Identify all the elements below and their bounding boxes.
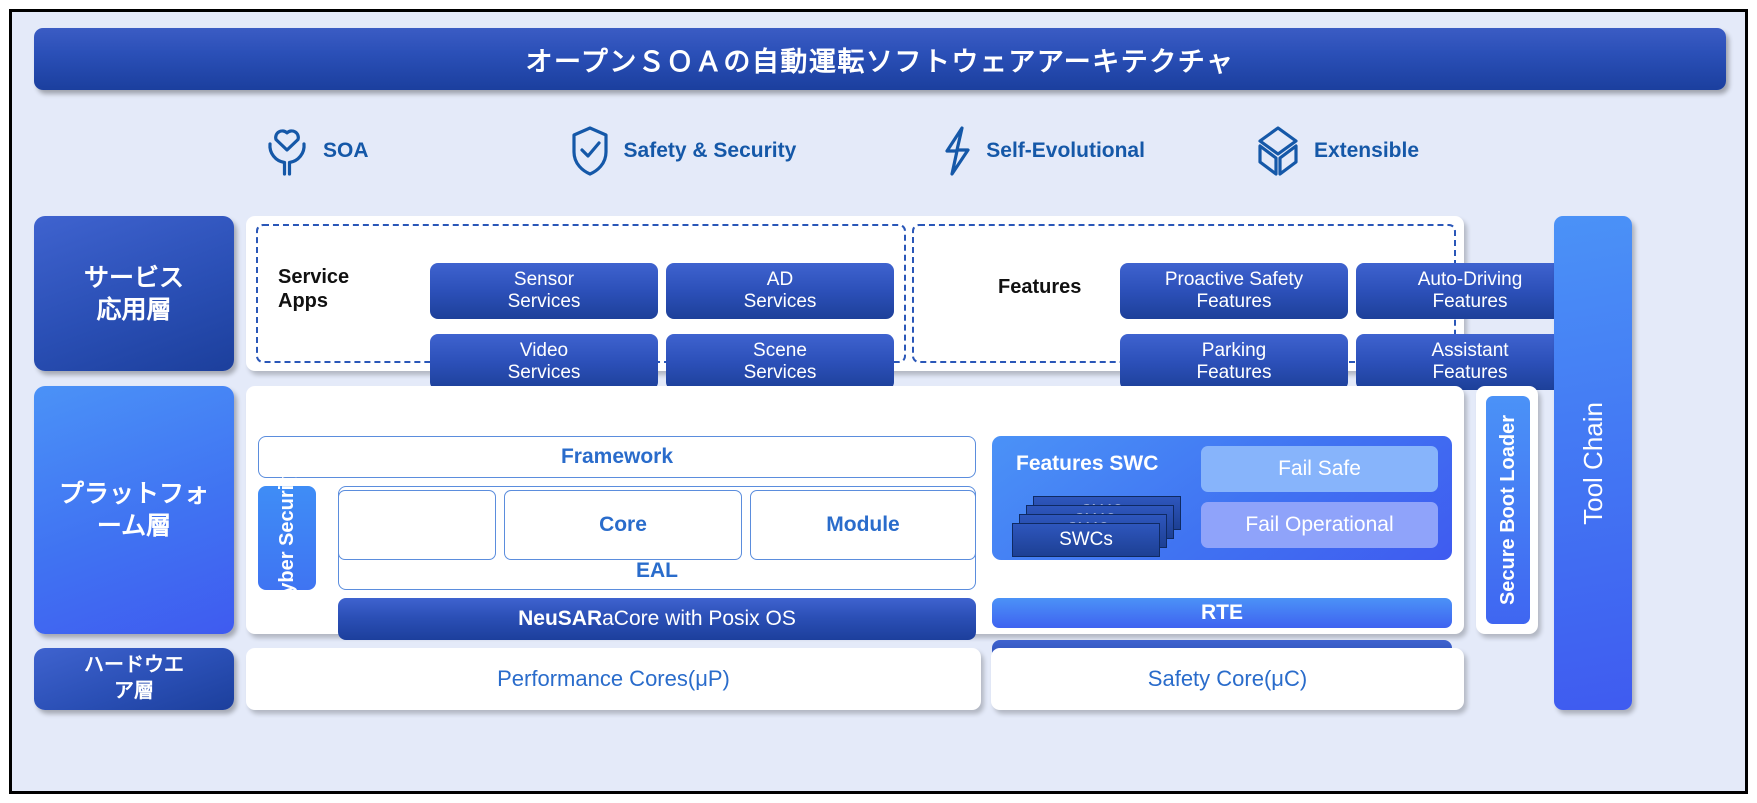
- layer-chip-hardware-line2: ア層: [84, 679, 184, 705]
- tile-line2: Services: [744, 291, 817, 313]
- service-apps-label-line2: Apps: [278, 290, 398, 314]
- layer-chip-service: サービス 応用層: [34, 216, 234, 371]
- tool-chain-bar[interactable]: Tool Chain: [1554, 216, 1632, 710]
- tile-video-services[interactable]: Video Services: [430, 334, 658, 390]
- neusar-acore-os-bar[interactable]: NeuSAR aCore with Posix OS: [338, 598, 976, 640]
- fail-operational-tile[interactable]: Fail Operational: [1201, 502, 1438, 548]
- lightning-bolt-icon: [941, 125, 973, 177]
- diagram-root: オープンＳＯＡの自動運転ソフトウェアアーキテクチャ SOA: [0, 0, 1757, 803]
- tile-auto-driving-features[interactable]: Auto-Driving Features: [1356, 263, 1584, 319]
- safety-core-label: Safety Core(μC): [991, 648, 1464, 710]
- service-apps-label-line1: Service: [278, 266, 398, 290]
- swc-card[interactable]: SWCs: [1012, 523, 1160, 557]
- heart-in-hands-icon: [264, 125, 310, 177]
- layer-chip-platform-line2: ーム層: [59, 510, 209, 542]
- secure-boot-loader-label: Secure Boot Loader: [1497, 415, 1520, 605]
- diagram-title-bar: オープンＳＯＡの自動運転ソフトウェアアーキテクチャ: [34, 28, 1726, 90]
- cube-icon: [1255, 125, 1301, 177]
- rte-bar[interactable]: RTE: [992, 598, 1452, 628]
- cyber-security-label: Cyber Security: [276, 467, 299, 608]
- framework-box[interactable]: Framework: [258, 436, 976, 478]
- tile-line2: Services: [508, 362, 581, 384]
- performance-cores-label: Performance Cores(μP): [246, 648, 981, 710]
- tile-ad-services[interactable]: AD Services: [666, 263, 894, 319]
- tile-line2: Services: [744, 362, 817, 384]
- tile-line2: Features: [1197, 362, 1272, 384]
- layer-chip-platform: プラットフォ ーム層: [34, 386, 234, 634]
- tile-line2: Features: [1431, 362, 1508, 384]
- tile-assistant-features[interactable]: Assistant Features: [1356, 334, 1584, 390]
- shield-check-icon: [569, 125, 611, 177]
- core-box[interactable]: Core: [504, 490, 742, 560]
- features-swc-title: Features SWC: [1016, 452, 1158, 476]
- features-label: Features: [998, 276, 1118, 300]
- tile-line1: Video: [508, 340, 581, 362]
- tile-line1: Assistant: [1431, 340, 1508, 362]
- pillar-safety-security: Safety & Security: [569, 125, 797, 177]
- layer-chip-hardware: ハードウエ ア層: [34, 648, 234, 710]
- tile-line2: Features: [1165, 291, 1303, 313]
- tile-sensor-services[interactable]: Sensor Services: [430, 263, 658, 319]
- pillar-label: Self-Evolutional: [986, 139, 1145, 163]
- pillar-soa: SOA: [264, 125, 369, 177]
- module-box[interactable]: Module: [750, 490, 976, 560]
- tile-line2: Services: [508, 291, 581, 313]
- layer-chip-hardware-line1: ハードウエ: [84, 653, 184, 679]
- cyber-security-bar[interactable]: Cyber Security: [258, 486, 316, 590]
- platform-empty-box[interactable]: [338, 490, 496, 560]
- tile-line1: Scene: [744, 340, 817, 362]
- tile-line1: Sensor: [508, 269, 581, 291]
- tile-line1: Auto-Driving: [1418, 269, 1523, 291]
- tile-scene-services[interactable]: Scene Services: [666, 334, 894, 390]
- pillar-label: Safety & Security: [624, 139, 797, 163]
- tile-proactive-safety-features[interactable]: Proactive Safety Features: [1120, 263, 1348, 319]
- neusar-acore-rest: aCore with Posix OS: [602, 607, 796, 631]
- diagram-frame: オープンＳＯＡの自動運転ソフトウェアアーキテクチャ SOA: [9, 9, 1748, 794]
- pillar-extensible: Extensible: [1255, 125, 1419, 177]
- service-apps-label: Service Apps: [278, 266, 398, 313]
- neusar-acore-brand: NeuSAR: [518, 607, 602, 631]
- tile-line1: AD: [744, 269, 817, 291]
- pillar-self-evolutional: Self-Evolutional: [941, 125, 1145, 177]
- tile-line2: Features: [1418, 291, 1523, 313]
- tool-chain-label: Tool Chain: [1578, 402, 1609, 525]
- layer-chip-service-line1: サービス: [84, 262, 184, 294]
- layer-chip-service-line2: 応用層: [84, 294, 184, 326]
- tile-line1: Parking: [1197, 340, 1272, 362]
- pillar-label: SOA: [323, 139, 369, 163]
- layer-chip-platform-line1: プラットフォ: [59, 478, 209, 510]
- tile-parking-features[interactable]: Parking Features: [1120, 334, 1348, 390]
- secure-boot-loader-bar[interactable]: Secure Boot Loader: [1486, 396, 1530, 624]
- pillar-label: Extensible: [1314, 139, 1419, 163]
- page-title: オープンＳＯＡの自動運転ソフトウェアアーキテクチャ: [526, 40, 1235, 79]
- tile-line1: Proactive Safety: [1165, 269, 1303, 291]
- pillar-strip: SOA Safety & Security Self-Evolutio: [34, 118, 1726, 184]
- fail-safe-tile[interactable]: Fail Safe: [1201, 446, 1438, 492]
